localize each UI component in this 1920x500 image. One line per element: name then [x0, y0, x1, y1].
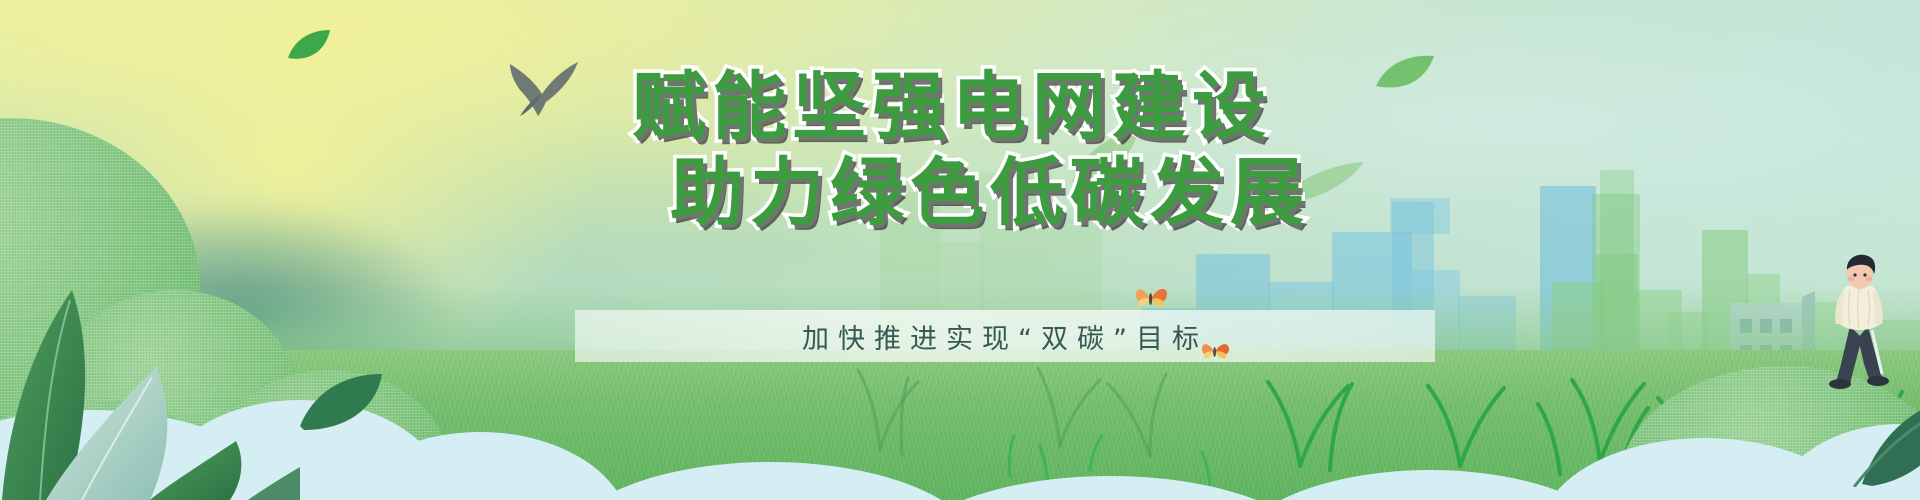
leaf-bottom-right	[1850, 392, 1920, 487]
swallow-icon	[502, 60, 584, 116]
person-eye	[1853, 273, 1856, 276]
floating-leaf-4	[1270, 160, 1366, 208]
leaf-icon	[1376, 56, 1434, 88]
subtitle-text: 加快推进实现“双碳”目标	[575, 310, 1435, 362]
leaf-icon	[288, 30, 330, 59]
person-eye	[1863, 273, 1866, 276]
leaf-icon	[1072, 132, 1138, 182]
person-shoe	[1867, 376, 1889, 386]
person-leg-back	[1836, 326, 1862, 384]
foreground-leaves	[0, 255, 340, 500]
floating-leaf-3	[1070, 130, 1140, 186]
leaf-icon	[248, 467, 300, 500]
leaf-icon	[1862, 398, 1920, 486]
floating-leaf-1	[286, 28, 332, 64]
butterfly-icon	[1134, 285, 1168, 313]
walking-person-figure	[1828, 252, 1902, 392]
leaf-small-left	[298, 372, 384, 432]
leaf-icon	[1272, 162, 1364, 204]
butterfly-icon	[1200, 340, 1230, 364]
leaf-icon	[300, 374, 382, 430]
banner-root: 赋能坚强电网建设 助力绿色低碳发展 加快推进实现“双碳”目标	[0, 0, 1920, 500]
building-top	[1390, 198, 1450, 234]
person-shoe	[1829, 379, 1851, 389]
floating-leaf-2	[1374, 52, 1436, 94]
